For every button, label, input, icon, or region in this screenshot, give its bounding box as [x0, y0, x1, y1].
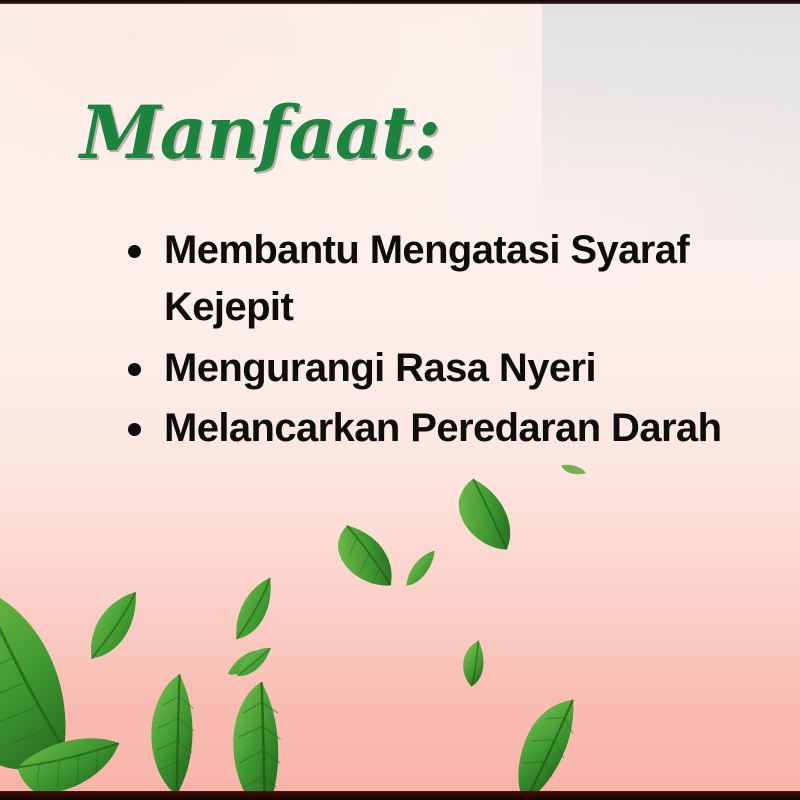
list-item: Melancarkan Peredaran Darah	[122, 400, 762, 457]
poster-canvas: Manfaat: Membantu Mengatasi Syaraf Kejep…	[0, 0, 800, 800]
page-title: Manfaat:	[80, 90, 440, 176]
benefits-list: Membantu Mengatasi Syaraf Kejepit Mengur…	[122, 222, 762, 461]
bottom-edge-band	[0, 791, 800, 800]
poster-content: Manfaat: Membantu Mengatasi Syaraf Kejep…	[0, 0, 800, 800]
list-item: Mengurangi Rasa Nyeri	[122, 340, 762, 397]
list-item: Membantu Mengatasi Syaraf Kejepit	[122, 222, 762, 336]
